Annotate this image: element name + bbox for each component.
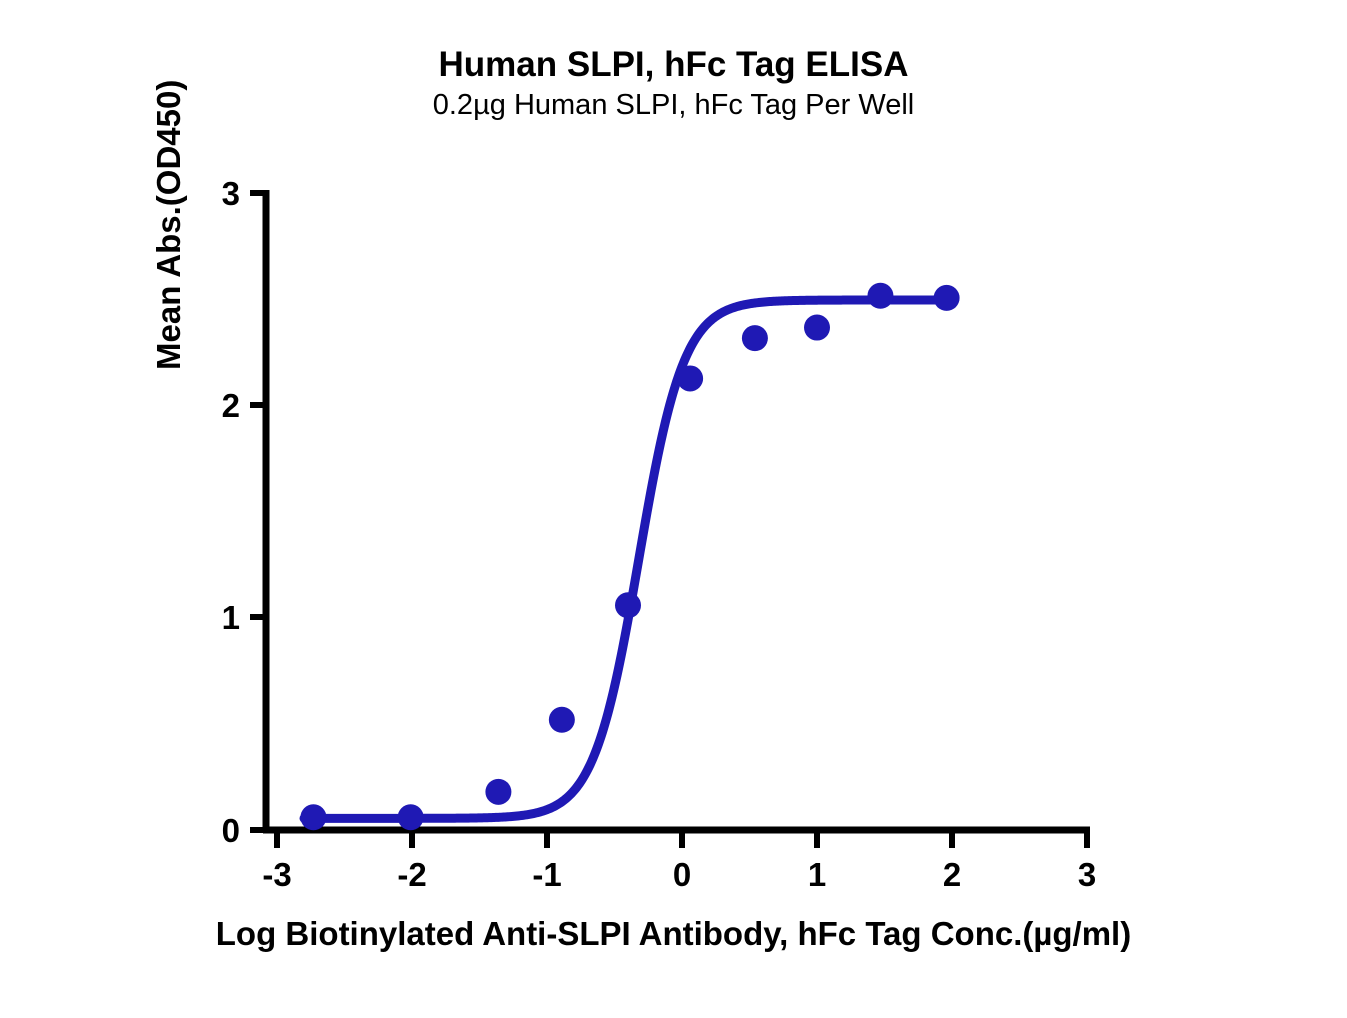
x-tick-label-neg2: -2 <box>397 856 426 893</box>
x-axis-tick-labels: -3 -2 -1 0 1 2 3 <box>262 856 1096 893</box>
y-tick-label-2: 2 <box>222 387 240 424</box>
x-tick-label-3: 3 <box>1078 856 1096 893</box>
y-tick-label-1: 1 <box>222 599 240 636</box>
y-tick-label-3: 3 <box>222 175 240 212</box>
x-tick-label-2: 2 <box>943 856 961 893</box>
x-tick-label-neg3: -3 <box>262 856 291 893</box>
data-point <box>300 804 326 830</box>
axis-lines <box>263 190 1090 833</box>
x-tick-label-1: 1 <box>808 856 826 893</box>
data-point <box>398 804 424 830</box>
data-point <box>677 365 703 391</box>
data-point <box>934 285 960 311</box>
data-point <box>485 779 511 805</box>
y-axis-tick-labels: 3 2 1 0 <box>222 175 240 849</box>
x-axis-title: Log Biotinylated Anti-SLPI Antibody, hFc… <box>0 915 1347 953</box>
fit-curve <box>304 300 955 818</box>
plot-area: 3 2 1 0 -3 -2 -1 0 1 2 3 <box>0 0 1347 1018</box>
data-point <box>742 325 768 351</box>
data-point-group <box>300 283 959 831</box>
x-tick-label-neg1: -1 <box>532 856 561 893</box>
data-point <box>867 283 893 309</box>
data-point <box>615 592 641 618</box>
data-point <box>804 315 830 341</box>
data-point <box>549 707 575 733</box>
y-tick-label-0: 0 <box>222 812 240 849</box>
x-tick-label-0: 0 <box>673 856 691 893</box>
elisa-chart-figure: Human SLPI, hFc Tag ELISA 0.2µg Human SL… <box>0 0 1347 1018</box>
